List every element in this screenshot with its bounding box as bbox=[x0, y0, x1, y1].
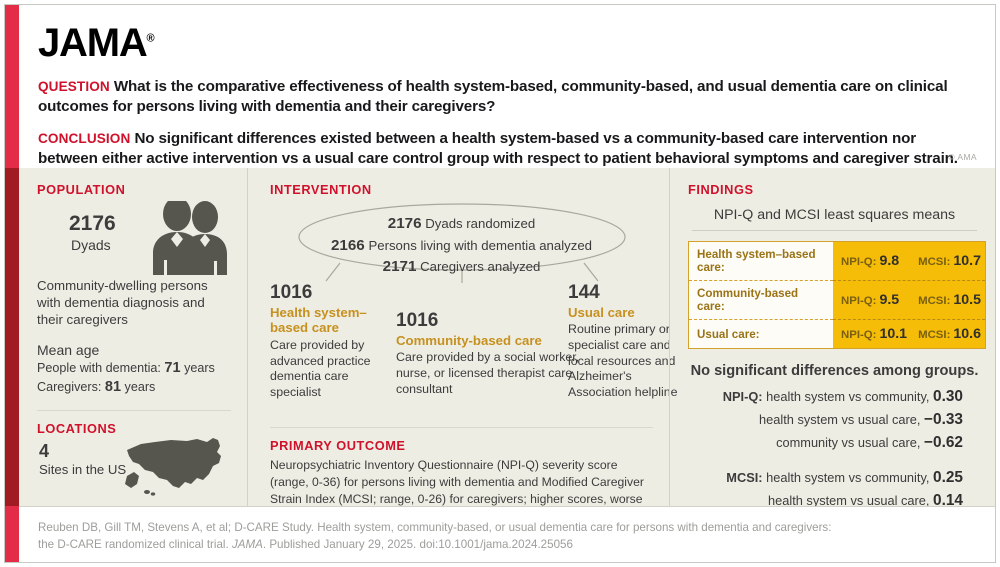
npiq-label-2: NPI-Q: bbox=[841, 329, 876, 341]
mean-age-dementia-label: People with dementia: bbox=[37, 361, 161, 375]
table-cell-group-2: Usual care: bbox=[689, 319, 833, 348]
mean-age-label: Mean age bbox=[37, 342, 231, 358]
section-title-findings: FINDINGS bbox=[688, 182, 981, 197]
flow-line-2: 2171 Caregivers analyzed bbox=[270, 256, 653, 278]
conclusion-block: CONCLUSION No significant differences ex… bbox=[38, 129, 975, 169]
flow-value-2: 2171 bbox=[383, 258, 417, 275]
flow-label-1: Persons living with dementia analyzed bbox=[368, 238, 592, 253]
section-title-intervention: INTERVENTION bbox=[270, 182, 653, 197]
arm-name-0: Health system–based care bbox=[270, 305, 392, 336]
section-title-population: POPULATION bbox=[37, 182, 231, 197]
comparison-group-npiq: NPI-Q: health system vs community, 0.30 … bbox=[688, 385, 981, 454]
question-block: QUESTION What is the comparative effecti… bbox=[38, 77, 975, 117]
mcsi-value-1: 10.5 bbox=[953, 292, 981, 308]
no-differences-heading: No significant differences among groups. bbox=[688, 363, 981, 379]
two-people-icon bbox=[147, 201, 243, 280]
intervention-arm-health-system: 1016 Health system–based care Care provi… bbox=[270, 283, 392, 401]
us-map-icon bbox=[121, 436, 229, 503]
panel-findings: FINDINGS NPI-Q and MCSI least squares me… bbox=[669, 168, 995, 506]
randomization-flow: 2176 Dyads randomized 2166 Persons livin… bbox=[270, 201, 653, 283]
npiq-label-1: NPI-Q: bbox=[841, 295, 876, 307]
accent-bar-top bbox=[5, 5, 19, 168]
population-count: 2176 bbox=[69, 213, 116, 235]
visual-abstract: JAMA® QUESTION What is the comparative e… bbox=[0, 0, 1000, 567]
arm-n-1: 1016 bbox=[396, 311, 588, 332]
flow-value-0: 2176 bbox=[388, 215, 422, 232]
comparison-label-npiq-0: health system vs community, bbox=[766, 389, 929, 404]
flow-lines: 2176 Dyads randomized 2166 Persons livin… bbox=[270, 213, 653, 278]
comparison-label-npiq-2: community vs usual care, bbox=[776, 435, 920, 450]
table-row: Health system–based care: NPI-Q: 9.8 MCS… bbox=[689, 242, 985, 280]
table-cell-values-2: NPI-Q: 10.1 MCSI: 10.6 bbox=[833, 319, 985, 348]
comparison-value-npiq-2: −0.62 bbox=[924, 434, 963, 451]
npiq-metric-0: NPI-Q: 9.8 bbox=[841, 253, 914, 269]
citation-line-2-pre: the D-CARE randomized clinical trial. bbox=[38, 538, 232, 551]
question-label: QUESTION bbox=[38, 79, 110, 94]
mcsi-value-0: 10.7 bbox=[953, 253, 981, 269]
comparison-line: MCSI: health system vs community, 0.25 bbox=[688, 466, 981, 489]
mean-age-dementia-value: 71 bbox=[164, 360, 180, 376]
table-row: Usual care: NPI-Q: 10.1 MCSI: 10.6 bbox=[689, 319, 985, 348]
registered-trademark-icon: ® bbox=[147, 33, 155, 45]
table-cell-values-0: NPI-Q: 9.8 MCSI: 10.7 bbox=[833, 242, 985, 280]
findings-table: Health system–based care: NPI-Q: 9.8 MCS… bbox=[688, 241, 986, 349]
flow-label-2: Caregivers analyzed bbox=[420, 259, 540, 274]
arm-name-2: Usual care bbox=[568, 305, 678, 321]
comparison-metric-npiq: NPI-Q: bbox=[723, 389, 763, 404]
mean-age-caregivers-unit: years bbox=[125, 380, 156, 394]
population-summary: 2176 Dyads bbox=[37, 201, 231, 275]
table-cell-values-1: NPI-Q: 9.5 MCSI: 10.5 bbox=[833, 280, 985, 319]
mean-age-values: People with dementia: 71 years Caregiver… bbox=[37, 359, 231, 398]
mcsi-label-0: MCSI: bbox=[918, 256, 950, 268]
comparison-value-npiq-0: 0.30 bbox=[933, 388, 963, 405]
arm-description-0: Care provided by advanced practice demen… bbox=[270, 338, 392, 401]
locations-description: Sites in the US bbox=[39, 462, 126, 479]
comparison-metric-mcsi: MCSI: bbox=[726, 470, 762, 485]
arm-n-2: 144 bbox=[568, 283, 678, 304]
npiq-metric-2: NPI-Q: 10.1 bbox=[841, 326, 914, 342]
intervention-arms: 1016 Health system–based care Care provi… bbox=[270, 283, 653, 415]
panel-divider bbox=[37, 410, 231, 411]
arm-name-1: Community-based care bbox=[396, 333, 588, 349]
conclusion-label: CONCLUSION bbox=[38, 131, 130, 146]
mcsi-value-2: 10.6 bbox=[953, 326, 981, 342]
comparison-label-mcsi-0: health system vs community, bbox=[766, 470, 929, 485]
comparison-line: community vs usual care, −0.62 bbox=[688, 431, 981, 454]
findings-subtitle: NPI-Q and MCSI least squares means bbox=[688, 207, 981, 223]
section-title-locations: LOCATIONS bbox=[37, 421, 231, 436]
npiq-metric-1: NPI-Q: 9.5 bbox=[841, 292, 914, 308]
npiq-value-2: 10.1 bbox=[879, 326, 907, 342]
flow-line-1: 2166 Persons living with dementia analyz… bbox=[270, 235, 653, 257]
mcsi-label-1: MCSI: bbox=[918, 295, 950, 307]
findings-rule bbox=[692, 230, 977, 231]
mcsi-metric-2: MCSI: 10.6 bbox=[918, 326, 981, 342]
npiq-value-0: 9.8 bbox=[879, 253, 899, 269]
population-description: Community-dwelling persons with dementia… bbox=[37, 277, 231, 328]
citation-line-1: Reuben DB, Gill TM, Stevens A, et al; D-… bbox=[38, 521, 831, 534]
body-panels: POPULATION 2176 Dyads bbox=[19, 168, 995, 506]
flow-label-0: Dyads randomized bbox=[425, 216, 535, 231]
locations-count: 4 bbox=[39, 442, 49, 461]
comparison-value-npiq-1: −0.33 bbox=[924, 411, 963, 428]
table-row: Community-based care: NPI-Q: 9.5 MCSI: 1… bbox=[689, 280, 985, 319]
mcsi-metric-0: MCSI: 10.7 bbox=[918, 253, 981, 269]
jama-logo-text: JAMA bbox=[38, 21, 147, 65]
citation: Reuben DB, Gill TM, Stevens A, et al; D-… bbox=[38, 519, 977, 554]
npiq-value-1: 9.5 bbox=[879, 292, 899, 308]
jama-logo: JAMA® bbox=[38, 23, 155, 63]
locations-summary: 4 Sites in the US bbox=[37, 440, 231, 500]
question-text: What is the comparative effectiveness of… bbox=[38, 78, 948, 115]
accent-bar-middle bbox=[5, 168, 19, 506]
arm-n-0: 1016 bbox=[270, 283, 392, 304]
copyright-notice: © AMA bbox=[948, 152, 977, 162]
panel-divider-outcome bbox=[270, 427, 653, 428]
mcsi-label-2: MCSI: bbox=[918, 329, 950, 341]
flow-value-1: 2166 bbox=[331, 237, 365, 254]
footer: Reuben DB, Gill TM, Stevens A, et al; D-… bbox=[19, 506, 995, 562]
mean-age-dementia-unit: years bbox=[184, 361, 215, 375]
mean-age-caregivers-value: 81 bbox=[105, 379, 121, 395]
panel-intervention-outcome: INTERVENTION 2176 Dyads randomized 2166 bbox=[247, 168, 669, 506]
population-count-unit: Dyads bbox=[71, 237, 111, 253]
section-title-primary-outcome: PRIMARY OUTCOME bbox=[270, 438, 653, 453]
header: JAMA® QUESTION What is the comparative e… bbox=[19, 5, 995, 168]
flow-line-0: 2176 Dyads randomized bbox=[270, 213, 653, 235]
citation-journal-name: JAMA bbox=[232, 538, 263, 551]
comparison-label-npiq-1: health system vs usual care, bbox=[759, 412, 920, 427]
comparison-value-mcsi-0: 0.25 bbox=[933, 469, 963, 486]
mcsi-metric-1: MCSI: 10.5 bbox=[918, 292, 981, 308]
table-cell-group-1: Community-based care: bbox=[689, 280, 833, 319]
intervention-arm-community: 1016 Community-based care Care provided … bbox=[396, 311, 588, 397]
citation-line-2-post: . Published January 29, 2025. doi:10.100… bbox=[263, 538, 573, 551]
npiq-label-0: NPI-Q: bbox=[841, 256, 876, 268]
arm-description-2: Routine primary or specialist care and l… bbox=[568, 322, 678, 400]
intervention-arm-usual-care: 144 Usual care Routine primary or specia… bbox=[568, 283, 678, 401]
conclusion-text: No significant differences existed betwe… bbox=[38, 130, 958, 167]
comparison-line: health system vs usual care, −0.33 bbox=[688, 408, 981, 431]
table-cell-group-0: Health system–based care: bbox=[689, 242, 833, 280]
mean-age-caregivers-label: Caregivers: bbox=[37, 380, 101, 394]
panel-population-locations: POPULATION 2176 Dyads bbox=[19, 168, 247, 506]
comparison-line: NPI-Q: health system vs community, 0.30 bbox=[688, 385, 981, 408]
accent-bar-bottom bbox=[5, 506, 19, 562]
arm-description-1: Care provided by a social worker, nurse,… bbox=[396, 350, 588, 397]
